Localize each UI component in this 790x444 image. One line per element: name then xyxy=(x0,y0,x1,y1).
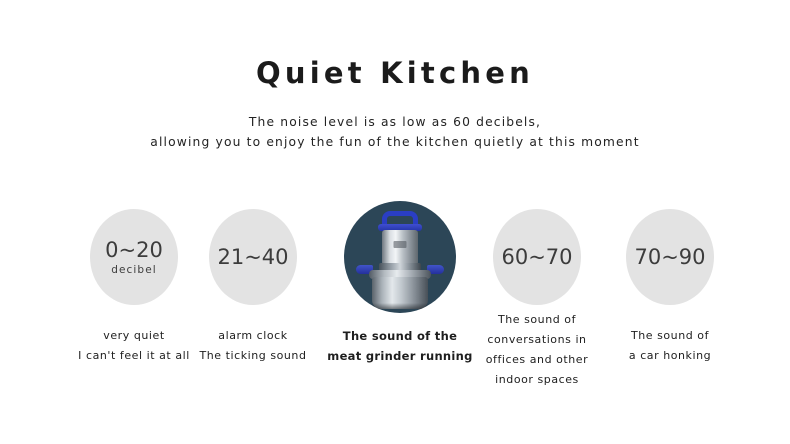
decibel-range: 0~20 xyxy=(105,239,163,261)
scale-caption: alarm clock The ticking sound xyxy=(173,326,333,366)
scale-caption: The sound of the meat grinder running xyxy=(325,326,475,366)
caption-line-2: a car honking xyxy=(590,346,750,366)
meat-grinder-icon xyxy=(344,201,456,313)
page-subtitle: The noise level is as low as 60 decibels… xyxy=(0,112,790,152)
decibel-bubble: 0~20 decibel xyxy=(90,209,178,305)
bubble-wrap: 70~90 xyxy=(590,198,750,316)
page-title: Quiet Kitchen xyxy=(0,0,790,88)
decibel-bubble: 70~90 xyxy=(626,209,714,305)
subtitle-line-1: The noise level is as low as 60 decibels… xyxy=(0,112,790,132)
decibel-range: 60~70 xyxy=(501,246,572,268)
product-bubble xyxy=(344,201,456,313)
header: Quiet Kitchen The noise level is as low … xyxy=(0,0,790,152)
bubble-wrap: 21~40 xyxy=(173,198,333,316)
scale-caption: The sound of a car honking xyxy=(590,326,750,366)
subtitle-line-2: allowing you to enjoy the fun of the kit… xyxy=(0,132,790,152)
scale-item-70-90: 70~90 The sound of a car honking xyxy=(590,198,750,366)
caption-line-1: alarm clock xyxy=(173,326,333,346)
scale-item-meat-grinder: The sound of the meat grinder running xyxy=(325,198,475,366)
decibel-unit-label: decibel xyxy=(111,265,157,276)
decibel-bubble: 60~70 xyxy=(493,209,581,305)
decibel-scale: 0~20 decibel very quiet I can't feel it … xyxy=(0,198,790,428)
quiet-kitchen-infographic: Quiet Kitchen The noise level is as low … xyxy=(0,0,790,444)
decibel-range: 70~90 xyxy=(634,246,705,268)
caption-line-2: The ticking sound xyxy=(173,346,333,366)
caption-line-4: indoor spaces xyxy=(457,370,617,390)
scale-item-21-40: 21~40 alarm clock The ticking sound xyxy=(173,198,333,366)
decibel-range: 21~40 xyxy=(217,246,288,268)
grinder-bowl xyxy=(372,277,428,309)
caption-line-1: The sound of xyxy=(590,326,750,346)
grinder-motor-unit xyxy=(382,230,418,264)
decibel-bubble: 21~40 xyxy=(209,209,297,305)
caption-line-2: meat grinder running xyxy=(325,346,475,366)
caption-line-1: The sound of the xyxy=(325,326,475,346)
bubble-wrap xyxy=(325,198,475,316)
